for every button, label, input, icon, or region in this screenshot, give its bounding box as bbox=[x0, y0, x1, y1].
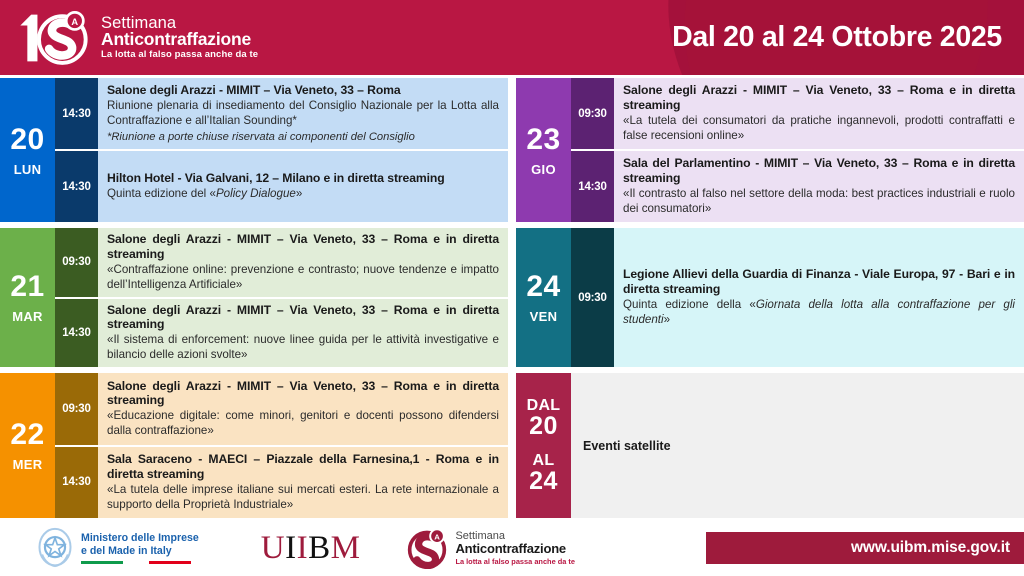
event-title: Hilton Hotel - Via Galvani, 12 – Milano … bbox=[107, 171, 499, 186]
website-url-bar[interactable]: www.uibm.mise.gov.it bbox=[706, 532, 1024, 564]
day-block-23[interactable]: 23 GIO 09:30 Salone degli Arazzi - MIMIT… bbox=[516, 78, 1024, 222]
event-time: 09:30 bbox=[571, 228, 614, 367]
event-title: Sala del Parlamentino - MIMIT – Via Vene… bbox=[623, 156, 1015, 186]
settimana-anticontraffazione-mark-icon: A bbox=[406, 527, 448, 569]
brand-lockup: A Settimana Anticontraffazione La lotta … bbox=[14, 10, 258, 66]
day-weekday: VEN bbox=[530, 310, 558, 323]
brand-text: Settimana Anticontraffazione La lotta al… bbox=[101, 15, 258, 60]
day-number: 21 bbox=[10, 272, 44, 302]
day-label-22: 22 MER bbox=[0, 373, 55, 518]
day-events-21: 09:30 Salone degli Arazzi - MIMIT – Via … bbox=[55, 228, 508, 367]
satellite-block[interactable]: DAL 20 AL 24 Eventi satellite bbox=[516, 373, 1024, 518]
italy-flag-bars bbox=[81, 561, 199, 564]
event-body: Salone degli Arazzi - MIMIT – Via Veneto… bbox=[98, 228, 508, 297]
flag-bar-red bbox=[149, 561, 191, 564]
satellite-date-range: DAL 20 AL 24 bbox=[516, 373, 571, 518]
day-number: 23 bbox=[526, 125, 560, 155]
page-footer: Ministero delle Imprese e del Made in It… bbox=[0, 520, 1024, 576]
day-block-24[interactable]: 24 VEN 09:30 Legione Allievi della Guard… bbox=[516, 228, 1024, 367]
event-description: «Il sistema di enforcement: nuove linee … bbox=[107, 333, 499, 363]
event-description: «Educazione digitale: come minori, genit… bbox=[107, 409, 499, 439]
day-number: 24 bbox=[526, 272, 560, 302]
page-header: A Settimana Anticontraffazione La lotta … bbox=[0, 0, 1024, 75]
event-title: Salone degli Arazzi - MIMIT – Via Veneto… bbox=[107, 379, 499, 409]
event-row[interactable]: 14:30 Salone degli Arazzi - MIMIT – Via … bbox=[55, 78, 508, 149]
uibm-logo: UIIBM bbox=[261, 530, 361, 567]
campaign-line-2: Anticontraffazione bbox=[455, 542, 575, 556]
event-title: Sala Saraceno - MAECI – Piazzale della F… bbox=[107, 452, 499, 482]
event-time: 09:30 bbox=[55, 373, 98, 445]
ministry-line-1: Ministero delle Imprese bbox=[81, 532, 199, 545]
event-row[interactable]: 09:30 Salone degli Arazzi - MIMIT – Via … bbox=[571, 78, 1024, 149]
day-label-24: 24 VEN bbox=[516, 228, 571, 367]
event-time: 14:30 bbox=[55, 78, 98, 149]
event-title: Salone degli Arazzi - MIMIT – Via Veneto… bbox=[623, 83, 1015, 113]
event-description: «La tutela dei consumatori da pratiche i… bbox=[623, 114, 1015, 144]
day-label-20: 20 LUN bbox=[0, 78, 55, 222]
uibm-letter-i-red: I bbox=[297, 530, 309, 567]
event-description: «Contraffazione online: prevenzione e co… bbox=[107, 263, 499, 293]
day-number: 20 bbox=[10, 125, 44, 155]
event-body: Salone degli Arazzi - MIMIT – Via Veneto… bbox=[614, 78, 1024, 149]
event-description: «Il contrasto al falso nel settore della… bbox=[623, 187, 1015, 217]
event-row[interactable]: 09:30 Legione Allievi della Guardia di F… bbox=[571, 228, 1024, 367]
website-url: www.uibm.mise.gov.it bbox=[851, 539, 1010, 557]
event-body: Legione Allievi della Guardia di Finanza… bbox=[614, 228, 1024, 367]
uibm-letter-b: B bbox=[308, 530, 331, 567]
event-title: Salone degli Arazzi - MIMIT – Via Veneto… bbox=[107, 83, 499, 98]
settimana-anticontraffazione-logo-icon: A bbox=[14, 10, 92, 66]
event-title: Legione Allievi della Guardia di Finanza… bbox=[623, 267, 1015, 297]
event-time: 14:30 bbox=[55, 447, 98, 519]
satellite-range-to: AL 24 bbox=[529, 453, 558, 494]
day-events-24: 09:30 Legione Allievi della Guardia di F… bbox=[571, 228, 1024, 367]
satellite-label: Eventi satellite bbox=[571, 373, 1024, 518]
event-body: Salone degli Arazzi - MIMIT – Via Veneto… bbox=[98, 299, 508, 368]
day-weekday: GIO bbox=[531, 163, 556, 176]
ministry-line-2: e del Made in Italy bbox=[81, 545, 199, 558]
campaign-tagline: La lotta al falso passa anche da te bbox=[455, 558, 575, 566]
italian-republic-emblem-icon bbox=[36, 527, 74, 569]
event-note: *Riunione a porte chiuse riservata ai co… bbox=[107, 130, 499, 144]
day-block-22[interactable]: 22 MER 09:30 Salone degli Arazzi - MIMIT… bbox=[0, 373, 508, 518]
event-row[interactable]: 09:30 Salone degli Arazzi - MIMIT – Via … bbox=[55, 373, 508, 445]
day-label-23: 23 GIO bbox=[516, 78, 571, 222]
ministry-text: Ministero delle Imprese e del Made in It… bbox=[81, 532, 199, 564]
event-body: Salone degli Arazzi - MIMIT – Via Veneto… bbox=[98, 78, 508, 149]
day-label-21: 21 MAR bbox=[0, 228, 55, 367]
event-time: 09:30 bbox=[55, 228, 98, 297]
brand-tagline: La lotta al falso passa anche da te bbox=[101, 50, 258, 60]
event-description: «La tutela delle imprese italiane sui me… bbox=[107, 483, 499, 513]
event-time: 14:30 bbox=[571, 151, 614, 222]
event-row[interactable]: 09:30 Salone degli Arazzi - MIMIT – Via … bbox=[55, 228, 508, 297]
uibm-letter-u: U bbox=[261, 530, 285, 567]
campaign-logo: A Settimana Anticontraffazione La lotta … bbox=[406, 527, 575, 569]
event-description: Riunione plenaria di insediamento del Co… bbox=[107, 99, 499, 129]
satellite-range-from: DAL 20 bbox=[527, 398, 561, 439]
day-events-22: 09:30 Salone degli Arazzi - MIMIT – Via … bbox=[55, 373, 508, 518]
header-date-range: Dal 20 al 24 Ottobre 2025 bbox=[672, 21, 1002, 54]
event-row[interactable]: 14:30 Sala del Parlamentino - MIMIT – Vi… bbox=[571, 149, 1024, 222]
day-events-23: 09:30 Salone degli Arazzi - MIMIT – Via … bbox=[571, 78, 1024, 222]
event-description: Quinta edizione della «Giornata della lo… bbox=[623, 298, 1015, 328]
event-description: Quinta edizione del «Policy Dialogue» bbox=[107, 187, 499, 202]
svg-text:A: A bbox=[435, 532, 441, 541]
brand-line-2: Anticontraffazione bbox=[101, 31, 258, 49]
event-body: Sala Saraceno - MAECI – Piazzale della F… bbox=[98, 447, 508, 519]
event-row[interactable]: 14:30 Salone degli Arazzi - MIMIT – Via … bbox=[55, 297, 508, 368]
satellite-from-number: 20 bbox=[527, 414, 561, 439]
svg-text:A: A bbox=[71, 16, 78, 26]
schedule-column-left: 20 LUN 14:30 Salone degli Arazzi - MIMIT… bbox=[0, 78, 508, 520]
flag-bar-green bbox=[81, 561, 123, 564]
day-weekday: MER bbox=[13, 458, 43, 471]
day-events-20: 14:30 Salone degli Arazzi - MIMIT – Via … bbox=[55, 78, 508, 222]
event-time: 14:30 bbox=[55, 151, 98, 222]
uibm-letter-i-dark: I bbox=[285, 530, 297, 567]
schedule-grid: 20 LUN 14:30 Salone degli Arazzi - MIMIT… bbox=[0, 78, 1024, 520]
day-weekday: LUN bbox=[14, 163, 42, 176]
event-title: Salone degli Arazzi - MIMIT – Via Veneto… bbox=[107, 232, 499, 262]
day-weekday: MAR bbox=[12, 310, 43, 323]
ministry-logo: Ministero delle Imprese e del Made in It… bbox=[36, 527, 199, 569]
day-block-20[interactable]: 20 LUN 14:30 Salone degli Arazzi - MIMIT… bbox=[0, 78, 508, 222]
event-row[interactable]: 14:30 Hilton Hotel - Via Galvani, 12 – M… bbox=[55, 149, 508, 222]
schedule-column-right: 23 GIO 09:30 Salone degli Arazzi - MIMIT… bbox=[516, 78, 1024, 520]
event-title: Salone degli Arazzi - MIMIT – Via Veneto… bbox=[107, 303, 499, 333]
campaign-text: Settimana Anticontraffazione La lotta al… bbox=[455, 531, 575, 566]
poster-root: A Settimana Anticontraffazione La lotta … bbox=[0, 0, 1024, 576]
event-time: 14:30 bbox=[55, 299, 98, 368]
event-body: Sala del Parlamentino - MIMIT – Via Vene… bbox=[614, 151, 1024, 222]
uibm-letter-m: M bbox=[331, 530, 361, 567]
satellite-to-number: 24 bbox=[529, 469, 558, 494]
event-body: Hilton Hotel - Via Galvani, 12 – Milano … bbox=[98, 151, 508, 222]
event-body: Salone degli Arazzi - MIMIT – Via Veneto… bbox=[98, 373, 508, 445]
event-time: 09:30 bbox=[571, 78, 614, 149]
day-number: 22 bbox=[10, 420, 44, 450]
day-block-21[interactable]: 21 MAR 09:30 Salone degli Arazzi - MIMIT… bbox=[0, 228, 508, 367]
event-row[interactable]: 14:30 Sala Saraceno - MAECI – Piazzale d… bbox=[55, 445, 508, 519]
